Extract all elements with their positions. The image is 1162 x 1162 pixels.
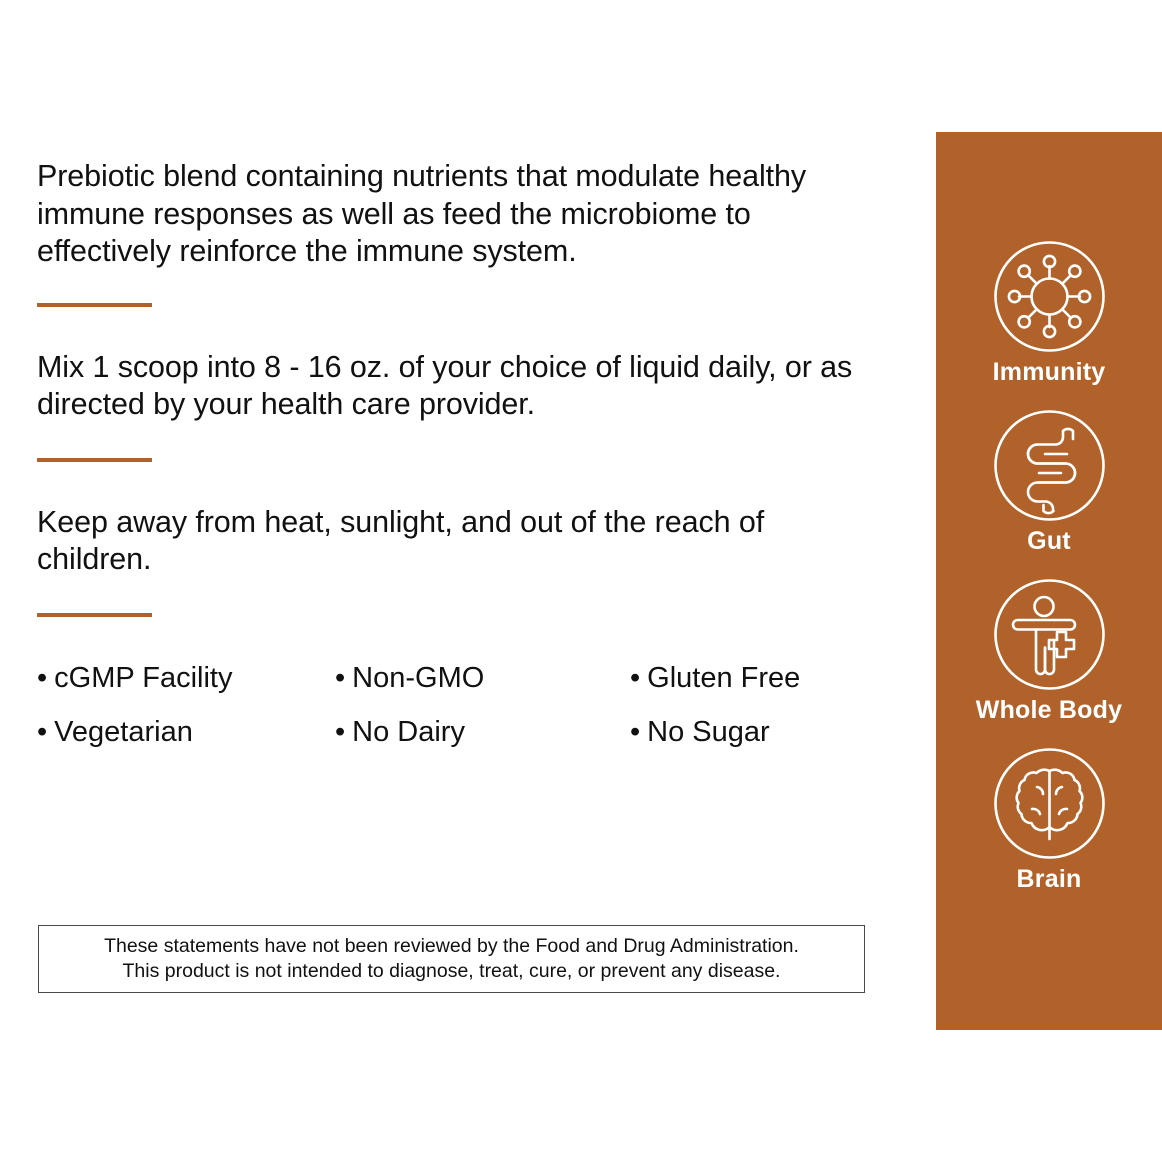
disclaimer-line-2: This product is not intended to diagnose… xyxy=(123,959,781,984)
benefit-item-whole-body: Whole Body xyxy=(936,578,1162,725)
feature-label: cGMP Facility xyxy=(54,662,232,694)
benefit-icon-list: Immunity Gut xyxy=(936,240,1162,916)
product-description-text: Prebiotic blend containing nutrients tha… xyxy=(37,158,867,271)
list-item: •Non-GMO xyxy=(335,655,630,701)
list-item: •No Sugar xyxy=(630,709,867,755)
label-content-column: Prebiotic blend containing nutrients tha… xyxy=(37,158,867,755)
list-item: •Gluten Free xyxy=(630,655,867,701)
bullet-point-icon: • xyxy=(630,662,640,694)
fda-disclaimer-box: These statements have not been reviewed … xyxy=(38,925,865,993)
storage-warning-text: Keep away from heat, sunlight, and out o… xyxy=(37,504,867,579)
section-divider-2 xyxy=(37,458,152,462)
disclaimer-line-1: These statements have not been reviewed … xyxy=(104,934,799,959)
feature-bullet-list: •cGMP Facility •Non-GMO •Gluten Free •Ve… xyxy=(37,655,867,755)
benefit-label: Whole Body xyxy=(976,696,1122,725)
benefit-label: Immunity xyxy=(993,358,1106,387)
benefit-sidebar: Immunity Gut xyxy=(936,132,1162,1030)
section-divider-3 xyxy=(37,613,152,617)
bullet-point-icon: • xyxy=(335,662,345,694)
supplement-label-panel: Prebiotic blend containing nutrients tha… xyxy=(0,0,1162,1162)
bullet-point-icon: • xyxy=(630,716,640,748)
benefit-item-gut: Gut xyxy=(936,409,1162,556)
whole-body-figure-icon xyxy=(993,578,1106,691)
gut-intestine-icon xyxy=(993,409,1106,522)
bullet-point-icon: • xyxy=(37,716,47,748)
bullet-point-icon: • xyxy=(335,716,345,748)
list-item: •Vegetarian xyxy=(37,709,335,755)
immunity-cell-icon xyxy=(993,240,1106,353)
list-item: •cGMP Facility xyxy=(37,655,335,701)
feature-label: Gluten Free xyxy=(647,662,800,694)
feature-label: Vegetarian xyxy=(54,716,193,748)
feature-label: Non-GMO xyxy=(352,662,484,694)
bullet-point-icon: • xyxy=(37,662,47,694)
feature-label: No Dairy xyxy=(352,716,465,748)
list-item: •No Dairy xyxy=(335,709,630,755)
section-divider-1 xyxy=(37,303,152,307)
directions-text: Mix 1 scoop into 8 - 16 oz. of your choi… xyxy=(37,349,867,424)
benefit-item-immunity: Immunity xyxy=(936,240,1162,387)
benefit-label: Gut xyxy=(1027,527,1071,556)
brain-icon xyxy=(993,747,1106,860)
benefit-item-brain: Brain xyxy=(936,747,1162,894)
feature-label: No Sugar xyxy=(647,716,770,748)
benefit-label: Brain xyxy=(1017,865,1082,894)
